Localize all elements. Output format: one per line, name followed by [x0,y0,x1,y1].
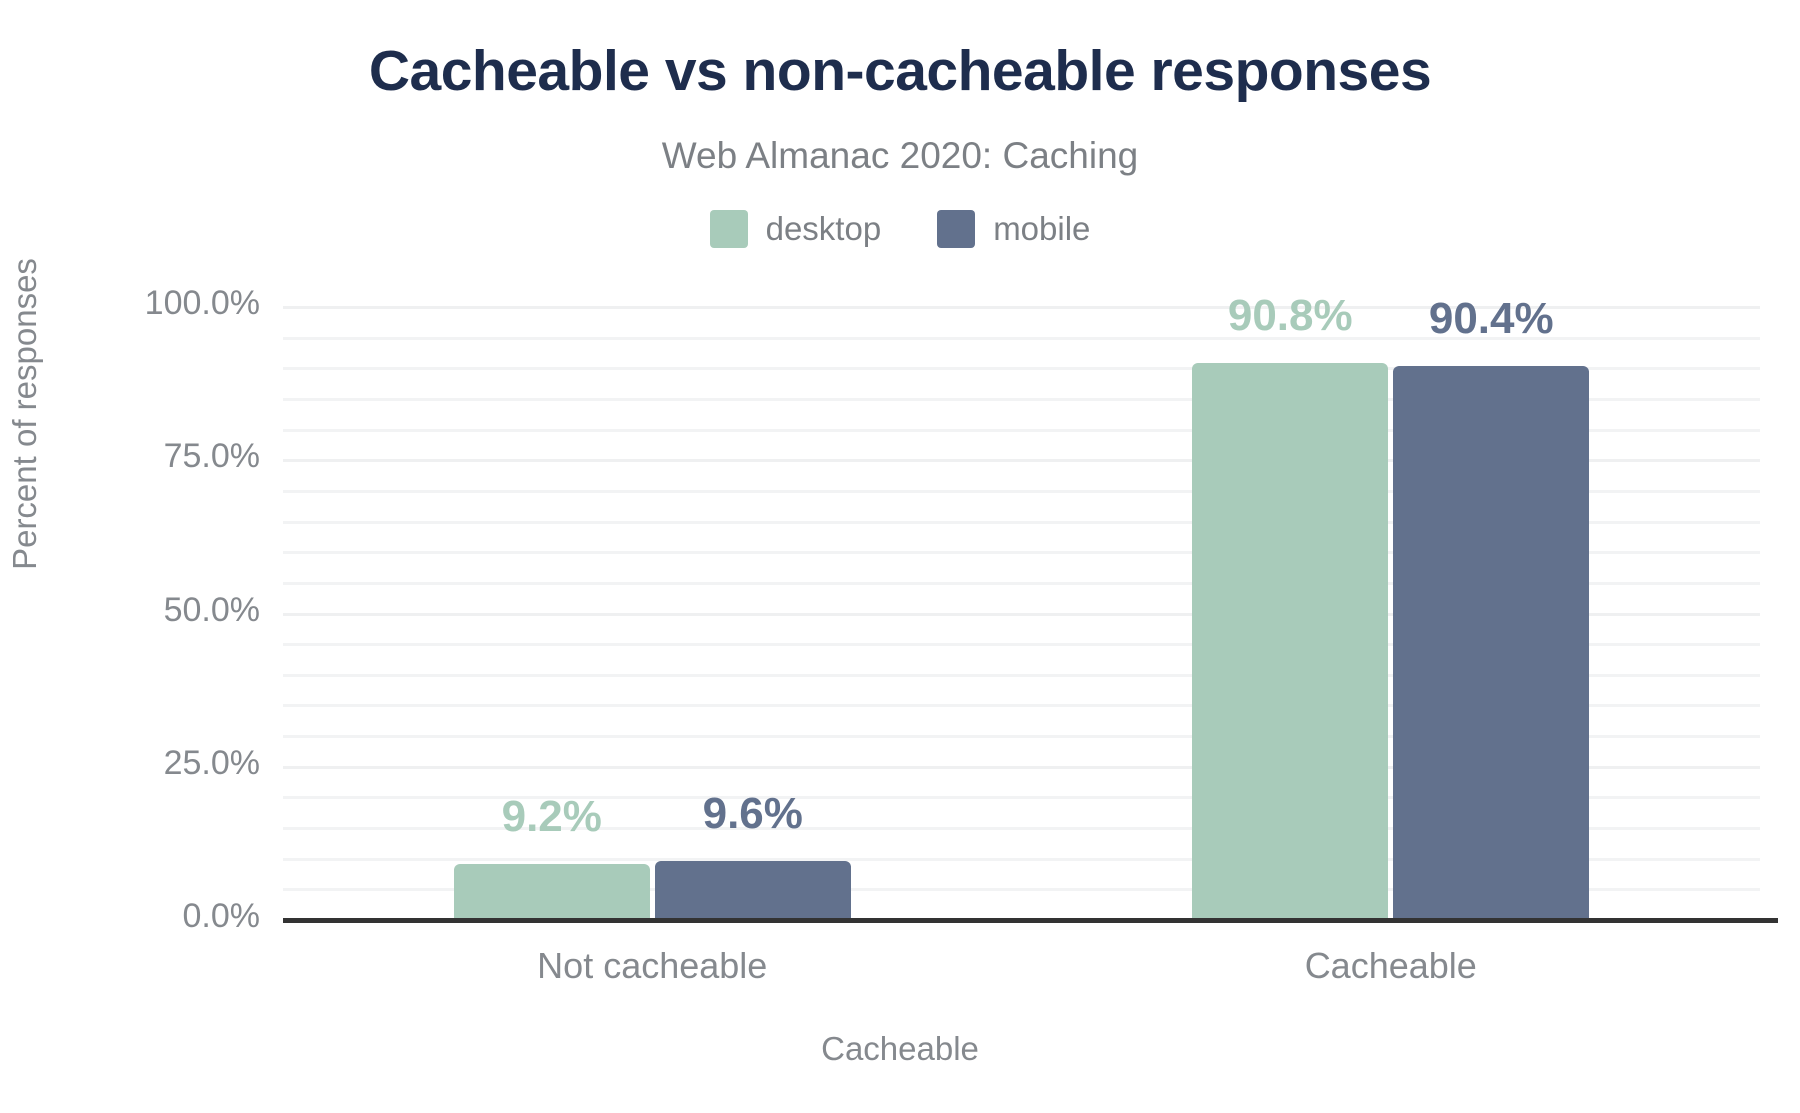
bar-chart: Cacheable vs non-cacheable responses Web… [0,0,1800,1113]
bar-desktop-1[interactable] [1192,363,1388,920]
bar-value-label: 9.6% [625,789,881,839]
legend-item-mobile[interactable]: mobile [937,210,1090,248]
legend-label-mobile: mobile [993,210,1090,248]
chart-subtitle: Web Almanac 2020: Caching [0,135,1800,177]
y-axis-tick-label: 50.0% [30,591,260,630]
bar-value-label: 90.4% [1363,294,1619,344]
legend-swatch-desktop [710,210,748,248]
chart-legend: desktop mobile [0,210,1800,248]
bar-mobile-1[interactable] [1393,366,1589,920]
y-axis-tick-label: 100.0% [30,284,260,323]
chart-title: Cacheable vs non-cacheable responses [0,38,1800,104]
legend-item-desktop[interactable]: desktop [710,210,882,248]
bar-desktop-0[interactable] [454,864,650,920]
x-axis-title: Cacheable [0,1030,1800,1068]
x-axis-tick-label: Not cacheable [352,945,952,987]
x-axis-baseline [283,918,1778,923]
legend-label-desktop: desktop [766,210,882,248]
x-axis-tick-label: Cacheable [1091,945,1691,987]
legend-swatch-mobile [937,210,975,248]
y-axis-tick-label: 0.0% [30,897,260,936]
y-axis-tick-label: 25.0% [30,744,260,783]
y-axis-tick-label: 75.0% [30,437,260,476]
bar-mobile-0[interactable] [655,861,851,920]
